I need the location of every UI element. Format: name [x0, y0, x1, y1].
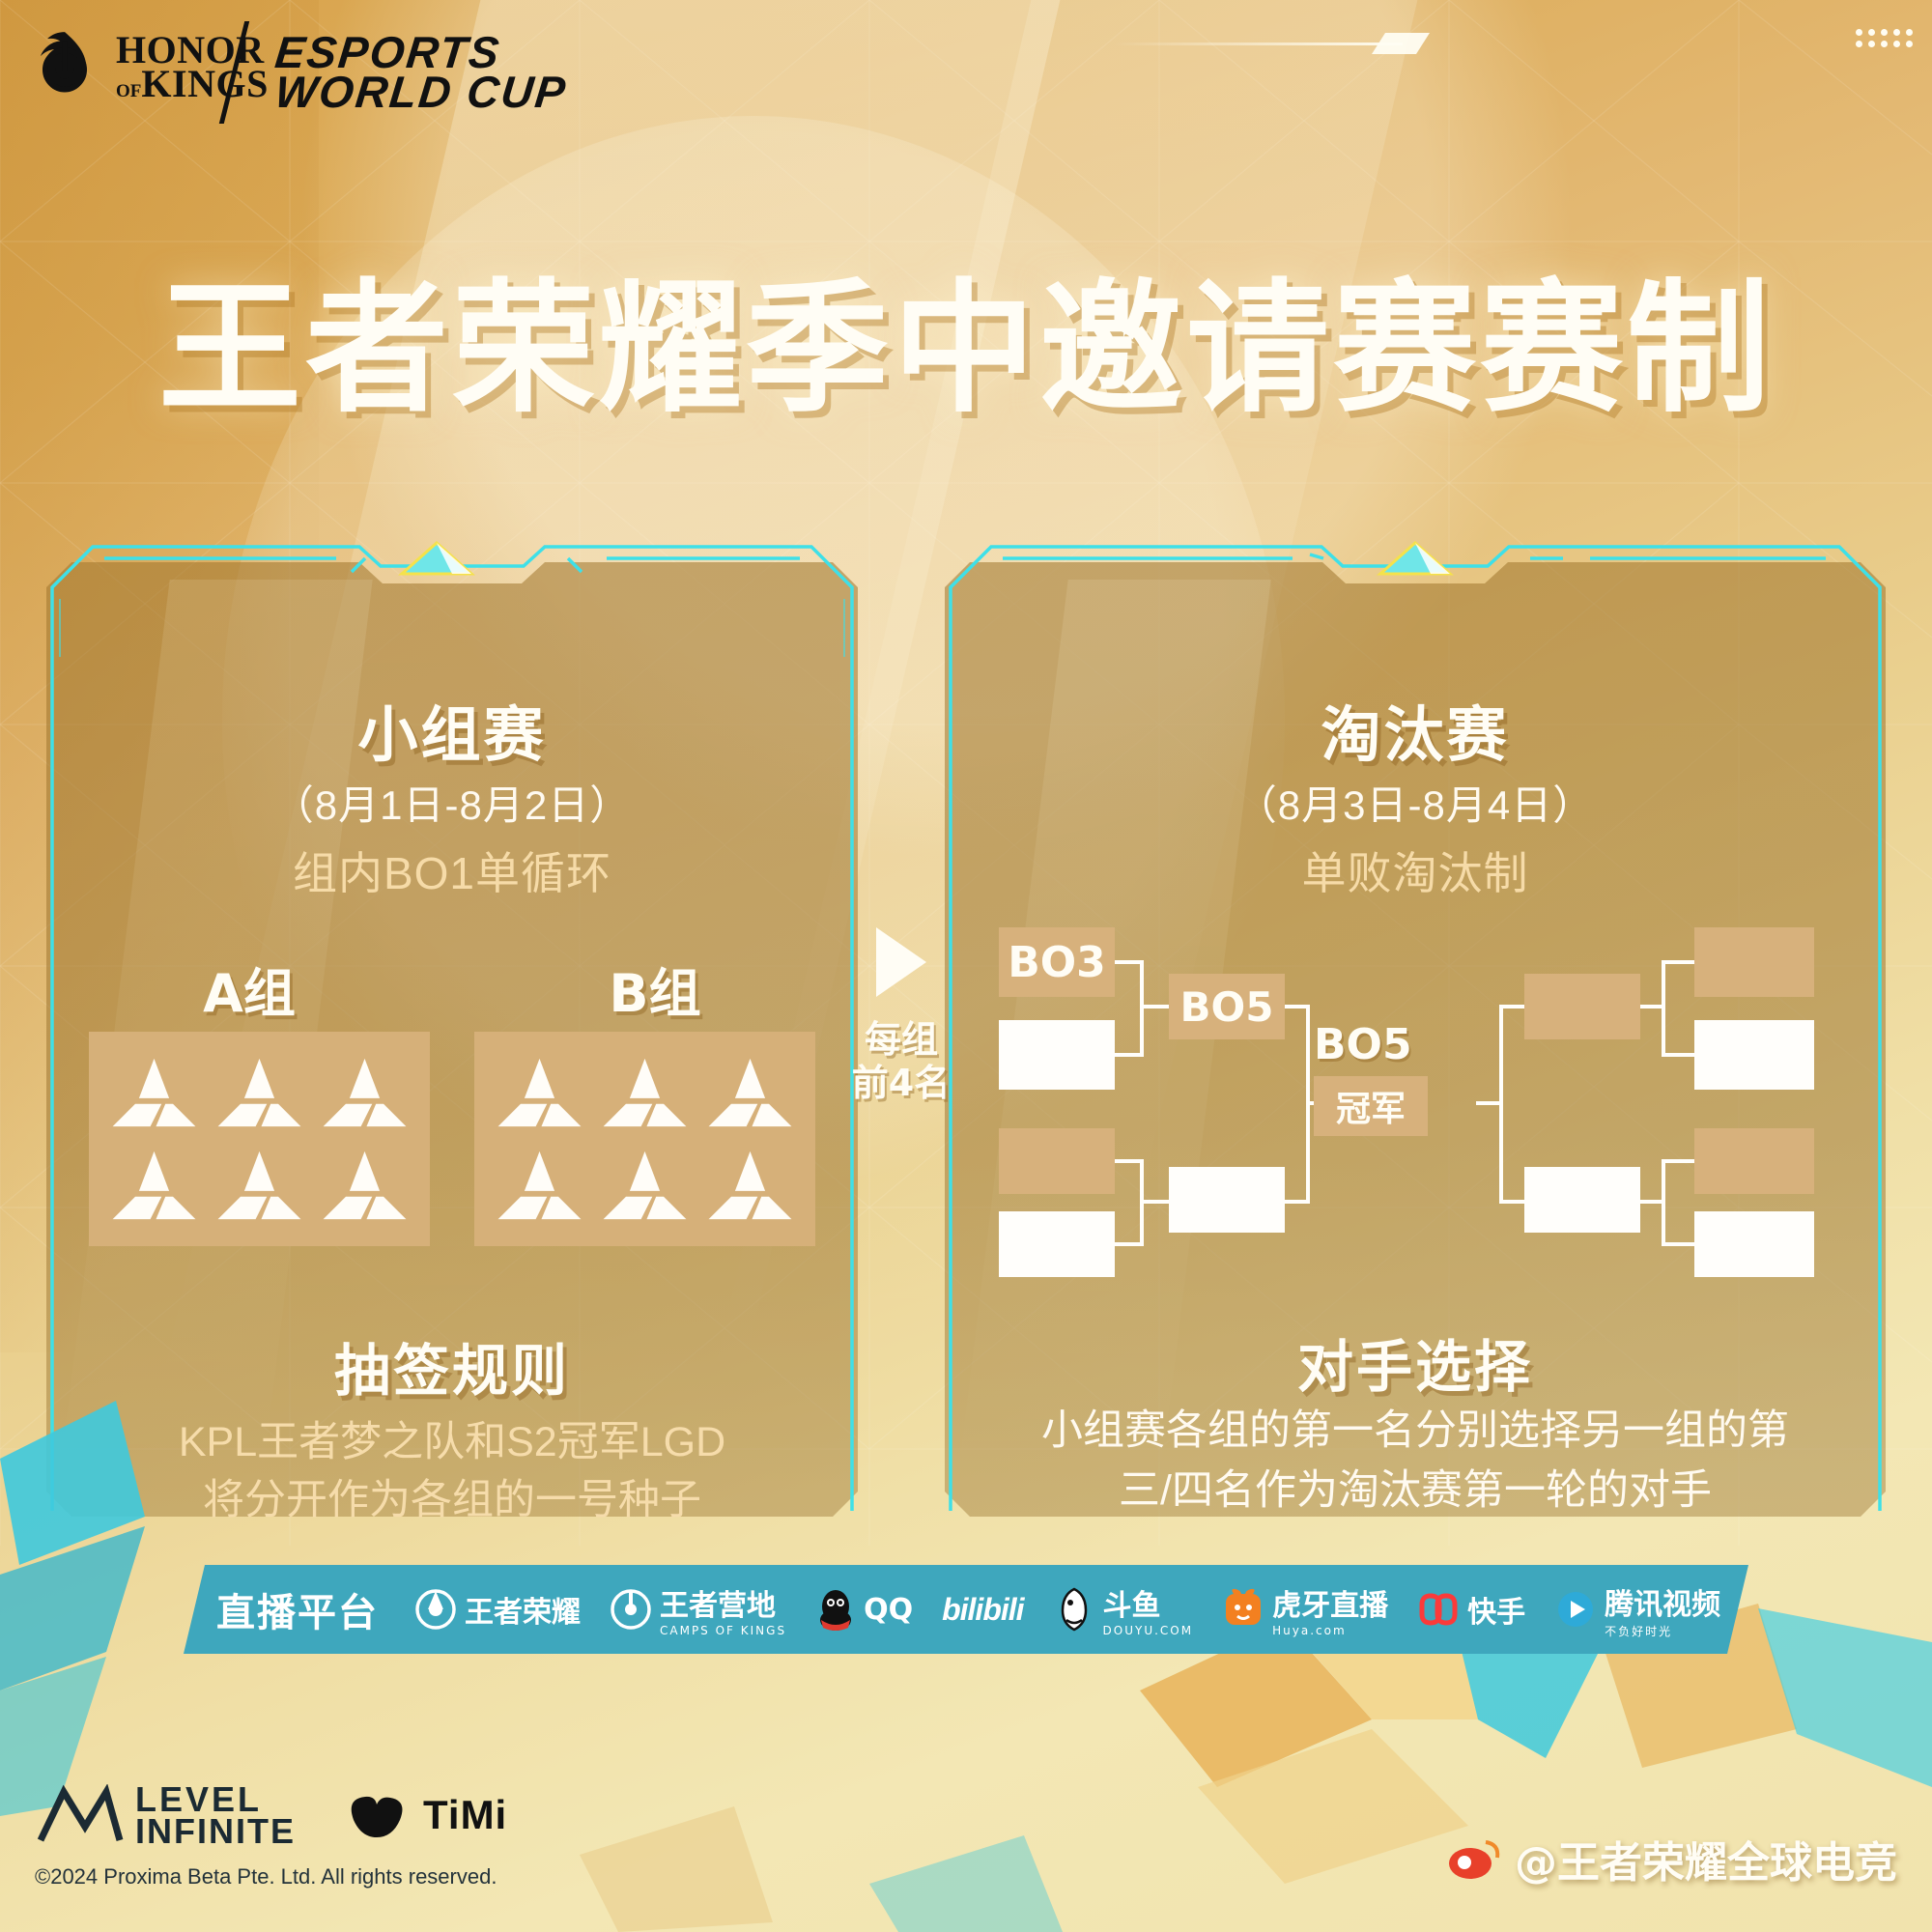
poster-canvas: HONOR OFKINGS ESPORTS WORLD CUP 王者荣耀季中邀请… [0, 0, 1932, 1932]
weibo-handle: @王者荣耀全球电竞 [1515, 1828, 1897, 1889]
opponent-choice-heading: 对手选择 [945, 1321, 1886, 1403]
esports-world-cup-logo: ESPORTS WORLD CUP [275, 33, 567, 113]
bracket-left-quarter-slot-3 [999, 1128, 1115, 1194]
bracket-right-quarter-slot-2 [1694, 1020, 1814, 1090]
level-infinite-line2: INFINITE [135, 1815, 296, 1847]
knockout-mode: 单败淘汰制 [945, 838, 1886, 902]
group-stage-panel: 小组赛 （8月1日-8月2日） 组内BO1单循环 A组 B组 [46, 541, 858, 1517]
group-a-label: A组 [46, 951, 452, 1027]
team-placeholder-triangle-icon [212, 1148, 307, 1223]
team-placeholder-triangle-icon [106, 1148, 202, 1223]
team-placeholder-triangle-icon [702, 1148, 798, 1223]
honor-of-kings-emblem-icon [27, 29, 102, 104]
timi-name: TiMi [423, 1792, 507, 1838]
bracket-left-quarter-label: BO3 [999, 927, 1115, 997]
group-a-box [89, 1032, 430, 1246]
bracket-connector [1662, 960, 1665, 1057]
bracket-champion-label: 冠军 [1314, 1076, 1428, 1136]
bracket-connector [1665, 960, 1694, 964]
bracket-right-semi-slot [1524, 974, 1640, 1039]
bracket-right-quarter-slot [1694, 927, 1814, 997]
weibo-icon [1447, 1836, 1501, 1881]
platform-name-sub: Huya.com [1272, 1624, 1388, 1637]
bracket-connector [1140, 960, 1144, 1057]
team-placeholder-triangle-icon [212, 1055, 307, 1130]
hok-line2: KINGS [141, 62, 268, 105]
group-boxes [89, 1032, 815, 1246]
team-placeholder-triangle-icon [106, 1055, 202, 1130]
qq-penguin-icon [815, 1587, 856, 1632]
team-placeholder-triangle-icon [317, 1148, 412, 1223]
advance-caption: 每组 前4名 [848, 1018, 954, 1105]
page-title: 王者荣耀季中邀请赛赛制 [0, 232, 1932, 440]
level-infinite-logo-icon [35, 1784, 124, 1846]
level-infinite-wordmark: LEVEL INFINITE [135, 1783, 296, 1847]
bracket-right-quarter-slot-4 [1694, 1211, 1814, 1277]
bracket-connector [1665, 1242, 1694, 1246]
team-placeholder-triangle-icon [702, 1055, 798, 1130]
bilibili-icon: bilibili [942, 1592, 1023, 1628]
level-infinite-logo: LEVEL INFINITE [35, 1783, 296, 1847]
bracket-connector [1144, 1200, 1169, 1204]
bracket-connector [1662, 1159, 1665, 1246]
platform-name-sub: CAMPS OF KINGS [660, 1624, 786, 1637]
platform-item-camps-of-kings[interactable]: 王者营地CAMPS OF KINGS [595, 1581, 801, 1637]
platform-name-sub: DOUYU.COM [1103, 1624, 1194, 1637]
platform-item-qq[interactable]: QQ [801, 1587, 927, 1632]
group-stage-date: （8月1日-8月2日） [46, 773, 858, 832]
huya-tiger-icon [1222, 1588, 1264, 1631]
platform-item-huya[interactable]: 虎牙直播Huya.com [1207, 1581, 1403, 1637]
bracket-left-quarter-slot-4 [999, 1211, 1115, 1277]
bracket-connector [1665, 1159, 1694, 1163]
honor-of-kings-icon [414, 1588, 457, 1631]
knockout-bracket: BO3 BO5 BO5 冠军 [989, 914, 1853, 1298]
platform-name: 王者营地CAMPS OF KINGS [660, 1581, 786, 1637]
group-b-label: B组 [452, 951, 858, 1027]
advance-caption-line1: 每组 [848, 1018, 954, 1062]
timi-studio-logo-icon [342, 1787, 410, 1843]
honor-of-kings-wordmark: HONOR OFKINGS [116, 33, 269, 100]
bracket-connector [1144, 1005, 1169, 1009]
hok-of: OF [116, 81, 141, 101]
group-stage-mode: 组内BO1单循环 [46, 838, 858, 902]
platform-name-main: 王者营地 [660, 1589, 776, 1623]
timi-studio-logo: TiMi [342, 1787, 507, 1843]
level-infinite-line1: LEVEL [135, 1783, 296, 1815]
platform-name-main: 腾讯视频 [1605, 1588, 1720, 1622]
copyright-text: ©2024 Proxima Beta Pte. Ltd. All rights … [35, 1864, 497, 1889]
platform-name-main: 虎牙直播 [1272, 1589, 1388, 1623]
knockout-panel: 淘汰赛 （8月3日-8月4日） 单败淘汰制 BO3 BO5 [945, 541, 1886, 1517]
footer-logos: LEVEL INFINITE TiMi [35, 1783, 507, 1847]
platform-item-kuaishou[interactable]: 快手 [1403, 1588, 1540, 1631]
platform-bar-title: 直播平台 [216, 1581, 379, 1637]
kuaishou-icon [1417, 1588, 1460, 1631]
team-placeholder-triangle-icon [492, 1055, 587, 1130]
knockout-heading: 淘汰赛 [945, 686, 1886, 773]
bracket-champion-slot: 冠军 [1314, 1076, 1428, 1136]
ewc-line2: WORLD CUP [273, 72, 569, 112]
platform-item-honor-of-kings[interactable]: 王者荣耀 [400, 1588, 595, 1631]
team-placeholder-triangle-icon [317, 1055, 412, 1130]
platform-name: 王者荣耀 [465, 1588, 581, 1631]
platform-item-tencent-video[interactable]: 腾讯视频不负好时光 [1540, 1580, 1735, 1639]
bracket-connector [1499, 1005, 1503, 1204]
platform-item-bilibili[interactable]: bilibili [927, 1592, 1037, 1628]
bracket-left-semi-slot: BO5 [1169, 974, 1285, 1039]
bracket-left-quarter-slot-2 [999, 1020, 1115, 1090]
header: HONOR OFKINGS ESPORTS WORLD CUP [0, 0, 1932, 155]
bracket-left-semi-label: BO5 [1169, 974, 1285, 1039]
bracket-right-quarter-slot-3 [1694, 1128, 1814, 1194]
bracket-left-quarter-slot: BO3 [999, 927, 1115, 997]
draw-rule-heading: 抽签规则 [46, 1325, 858, 1406]
platform-name-main: 斗鱼 [1103, 1589, 1161, 1623]
team-placeholder-triangle-icon [597, 1148, 693, 1223]
arrow-accent-icon [1372, 29, 1430, 58]
team-placeholder-triangle-icon [492, 1148, 587, 1223]
advance-caption-line2: 前4名 [848, 1062, 954, 1105]
advance-arrow-icon [876, 927, 926, 997]
platform-name-sub: 不负好时光 [1605, 1623, 1720, 1639]
bracket-connector [1476, 1101, 1499, 1105]
group-stage-heading: 小组赛 [46, 686, 858, 773]
platform-name: 虎牙直播Huya.com [1272, 1581, 1388, 1637]
tencent-video-icon [1554, 1588, 1597, 1631]
streaming-platform-bar: 直播平台 王者荣耀 王者营地CAMPS OF KINGS [184, 1565, 1748, 1654]
platform-name: QQ [864, 1593, 913, 1627]
platform-name: 斗鱼DOUYU.COM [1103, 1581, 1194, 1637]
douyu-fish-icon [1053, 1587, 1095, 1632]
platform-item-douyu[interactable]: 斗鱼DOUYU.COM [1038, 1581, 1208, 1637]
header-accent-line [1113, 43, 1403, 45]
advance-indicator: 每组 前4名 [848, 927, 954, 1105]
weibo-handle-block[interactable]: @王者荣耀全球电竞 [1447, 1828, 1897, 1889]
group-labels: A组 B组 [46, 951, 858, 1027]
dot-grid-icon [1856, 29, 1913, 47]
bracket-right-semi-slot-2 [1524, 1167, 1640, 1233]
bracket-left-semi-slot-2 [1169, 1167, 1285, 1233]
team-placeholder-triangle-icon [597, 1055, 693, 1130]
camps-of-kings-icon [610, 1588, 652, 1631]
platform-name: 腾讯视频不负好时光 [1605, 1580, 1720, 1639]
knockout-date: （8月3日-8月4日） [945, 773, 1886, 832]
bracket-final-label: BO5 [1314, 1020, 1412, 1069]
bracket-connector [1665, 1053, 1694, 1057]
group-b-box [474, 1032, 815, 1246]
platform-name: 快手 [1467, 1588, 1525, 1631]
